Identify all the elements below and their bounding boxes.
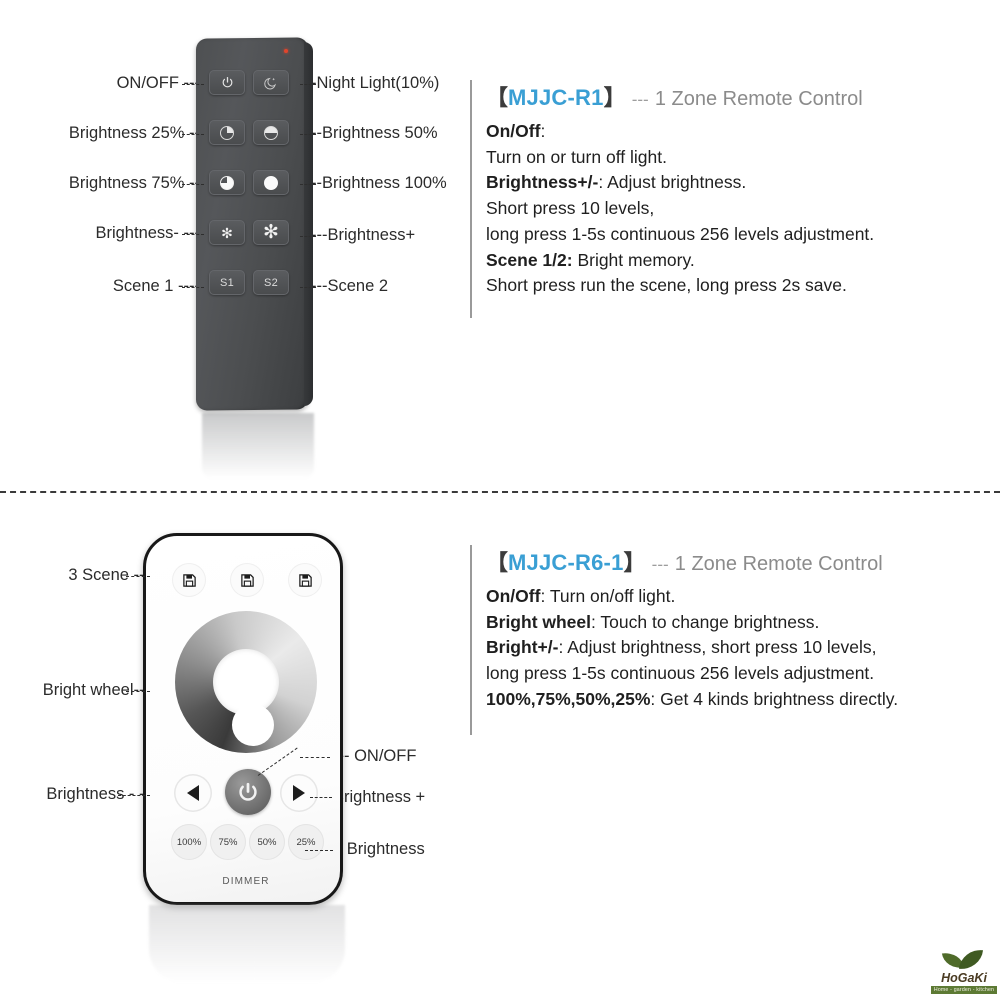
button-brightness-50[interactable]: 50% bbox=[249, 824, 285, 860]
button-brightness-up[interactable]: ✻ bbox=[253, 220, 289, 245]
line-rest: : bbox=[540, 121, 545, 141]
pie-100-icon bbox=[264, 176, 278, 190]
brand-logo: HoGaKi Home - garden - kitchen bbox=[933, 936, 995, 994]
leader-line bbox=[300, 757, 330, 758]
pie-75-icon bbox=[220, 176, 234, 190]
line-rest: : Touch to change brightness. bbox=[591, 612, 819, 632]
panel-line: On/Off: Turn on/off light. bbox=[486, 584, 898, 610]
bracket-close: 】 bbox=[624, 550, 646, 575]
line-rest: Short press 10 levels, bbox=[486, 198, 654, 218]
power-icon bbox=[237, 781, 259, 803]
callout-r1-night-light: -Night Light(10%) bbox=[311, 74, 439, 93]
leader-line bbox=[182, 84, 204, 85]
button-scene-1-label: S1 bbox=[220, 277, 234, 289]
remote-mjjc-r6-1: 100% 75% 50% 25% DIMMER bbox=[135, 533, 365, 983]
button-brightness-100[interactable] bbox=[253, 170, 289, 195]
line-bold: Brightness+/- bbox=[486, 172, 598, 192]
panel-subtitle: 1 Zone Remote Control bbox=[675, 553, 883, 575]
remote-reflection bbox=[149, 905, 345, 983]
leader-line bbox=[126, 576, 150, 577]
button-scene-2-label: S2 bbox=[264, 277, 278, 289]
bracket-close: 】 bbox=[604, 85, 626, 110]
panel-line: long press 1-5s continuous 256 levels ad… bbox=[486, 222, 874, 248]
leader-line bbox=[300, 134, 316, 135]
bracket-open: 【 bbox=[486, 85, 508, 110]
callout-r1-brightness-100: --Brightness 100% bbox=[311, 174, 447, 193]
callout-r1-scene-2: ---Scene 2 bbox=[311, 277, 388, 296]
button-scene-2[interactable]: S2 bbox=[253, 270, 289, 295]
button-scene-2[interactable] bbox=[230, 563, 264, 597]
leader-line bbox=[182, 234, 204, 235]
leader-line bbox=[182, 184, 204, 185]
leaf-right-icon bbox=[959, 948, 983, 971]
product-infographic: ON/OFF --- Brightness 25% -- Brightness … bbox=[0, 0, 1000, 1000]
leader-line bbox=[182, 134, 204, 135]
panel-line: Bright wheel: Touch to change brightness… bbox=[486, 610, 898, 636]
button-brightness-100[interactable]: 100% bbox=[171, 824, 207, 860]
line-rest: long press 1-5s continuous 256 levels ad… bbox=[486, 224, 874, 244]
model-name: MJJC-R6-1 bbox=[508, 550, 624, 575]
triangle-left-icon bbox=[187, 785, 199, 801]
button-brightness-25[interactable] bbox=[209, 120, 245, 145]
title-dashes: --- bbox=[652, 555, 669, 574]
button-brightness-down[interactable]: ✻ bbox=[209, 220, 245, 245]
brand-tagline: Home - garden - kitchen bbox=[931, 986, 997, 994]
panel-title-r1: 【MJJC-R1】 --- 1 Zone Remote Control bbox=[486, 80, 874, 112]
line-rest: : Adjust brightness, short press 10 leve… bbox=[558, 637, 876, 657]
line-bold: 100%,75%,50%,25% bbox=[486, 689, 650, 709]
line-bold: Bright wheel bbox=[486, 612, 591, 632]
led-indicator bbox=[284, 49, 288, 53]
dimmer-label: DIMMER bbox=[146, 876, 346, 887]
remote-mjjc-r1: ✻ ✻ S1 S2 bbox=[196, 38, 320, 478]
button-night-light[interactable] bbox=[253, 70, 289, 95]
line-bold: On/Off bbox=[486, 121, 540, 141]
title-dashes: --- bbox=[632, 90, 649, 109]
button-brightness-up[interactable] bbox=[280, 774, 318, 812]
leader-line bbox=[182, 287, 204, 288]
panel-line: Short press 10 levels, bbox=[486, 196, 874, 222]
sun-large-icon: ✻ bbox=[263, 223, 279, 242]
save-icon bbox=[298, 573, 313, 588]
line-rest: : Turn on/off light. bbox=[540, 586, 675, 606]
line-bold: Bright+/- bbox=[486, 637, 558, 657]
callout-r1-brightness-50: --Brightness 50% bbox=[311, 124, 438, 143]
leader-line bbox=[300, 84, 316, 85]
remote-reflection bbox=[202, 413, 314, 479]
panel-line: Bright+/-: Adjust brightness, short pres… bbox=[486, 635, 898, 661]
save-icon bbox=[240, 573, 255, 588]
panel-line: On/Off: bbox=[486, 119, 874, 145]
line-rest: Short press run the scene, long press 2s… bbox=[486, 275, 847, 295]
panel-subtitle: 1 Zone Remote Control bbox=[655, 88, 863, 110]
brand-name: HoGaKi bbox=[941, 972, 987, 986]
wheel-notch bbox=[232, 704, 274, 746]
callout-r1-brightness-75: Brightness 75% -- bbox=[10, 174, 200, 193]
leader-line bbox=[118, 795, 150, 796]
leader-line bbox=[300, 236, 316, 237]
line-rest: Bright memory. bbox=[573, 250, 695, 270]
section-divider bbox=[0, 491, 1000, 493]
leader-line bbox=[126, 691, 150, 692]
leader-line bbox=[305, 850, 333, 851]
panel-title-r6: 【MJJC-R6-1】 --- 1 Zone Remote Control bbox=[486, 545, 898, 577]
line-rest: Turn on or turn off light. bbox=[486, 147, 667, 167]
callout-r1-scene-1: Scene 1 ---- bbox=[10, 277, 200, 296]
panel-line: Turn on or turn off light. bbox=[486, 145, 874, 171]
line-rest: : Adjust brightness. bbox=[598, 172, 746, 192]
sun-small-icon: ✻ bbox=[221, 226, 233, 240]
leader-line bbox=[300, 184, 316, 185]
description-panel-r6: 【MJJC-R6-1】 --- 1 Zone Remote Control On… bbox=[470, 545, 898, 735]
leader-line bbox=[300, 287, 316, 288]
panel-line: 100%,75%,50%,25%: Get 4 kinds brightness… bbox=[486, 687, 898, 713]
remote-side-edge bbox=[304, 42, 313, 406]
moon-icon bbox=[264, 76, 278, 90]
leader-line bbox=[310, 797, 332, 798]
button-power[interactable] bbox=[209, 70, 245, 95]
callout-r1-brightness-25: Brightness 25% -- bbox=[10, 124, 200, 143]
panel-line: Brightness+/-: Adjust brightness. bbox=[486, 170, 874, 196]
pie-50-icon bbox=[264, 126, 278, 140]
line-rest: : Get 4 kinds brightness directly. bbox=[650, 689, 898, 709]
button-scene-1[interactable] bbox=[172, 563, 206, 597]
triangle-right-icon bbox=[293, 785, 305, 801]
button-brightness-75[interactable] bbox=[209, 170, 245, 195]
button-brightness-down[interactable] bbox=[174, 774, 212, 812]
button-scene-3[interactable] bbox=[288, 563, 322, 597]
model-name: MJJC-R1 bbox=[508, 85, 604, 110]
bracket-open: 【 bbox=[486, 550, 508, 575]
line-bold: Scene 1/2: bbox=[486, 250, 573, 270]
description-panel-r1: 【MJJC-R1】 --- 1 Zone Remote Control On/O… bbox=[470, 80, 874, 318]
callout-r1-onoff: ON/OFF --- bbox=[10, 74, 200, 93]
callout-r1-brightness-down: Brightness- --- bbox=[10, 224, 200, 243]
button-scene-1[interactable]: S1 bbox=[209, 270, 245, 295]
panel-line: Short press run the scene, long press 2s… bbox=[486, 273, 874, 299]
line-bold: On/Off bbox=[486, 586, 540, 606]
panel-line: long press 1-5s continuous 256 levels ad… bbox=[486, 661, 898, 687]
power-icon bbox=[221, 76, 234, 89]
callout-r1-brightness-up: ---Brightness+ bbox=[311, 226, 415, 245]
pie-25-icon bbox=[220, 126, 234, 140]
leaf-icon bbox=[941, 948, 987, 972]
button-power[interactable] bbox=[225, 769, 271, 815]
panel-line: Scene 1/2: Bright memory. bbox=[486, 248, 874, 274]
button-brightness-25[interactable]: 25% bbox=[288, 824, 324, 860]
line-rest: long press 1-5s continuous 256 levels ad… bbox=[486, 663, 874, 683]
button-brightness-75[interactable]: 75% bbox=[210, 824, 246, 860]
save-icon bbox=[182, 573, 197, 588]
button-brightness-50[interactable] bbox=[253, 120, 289, 145]
